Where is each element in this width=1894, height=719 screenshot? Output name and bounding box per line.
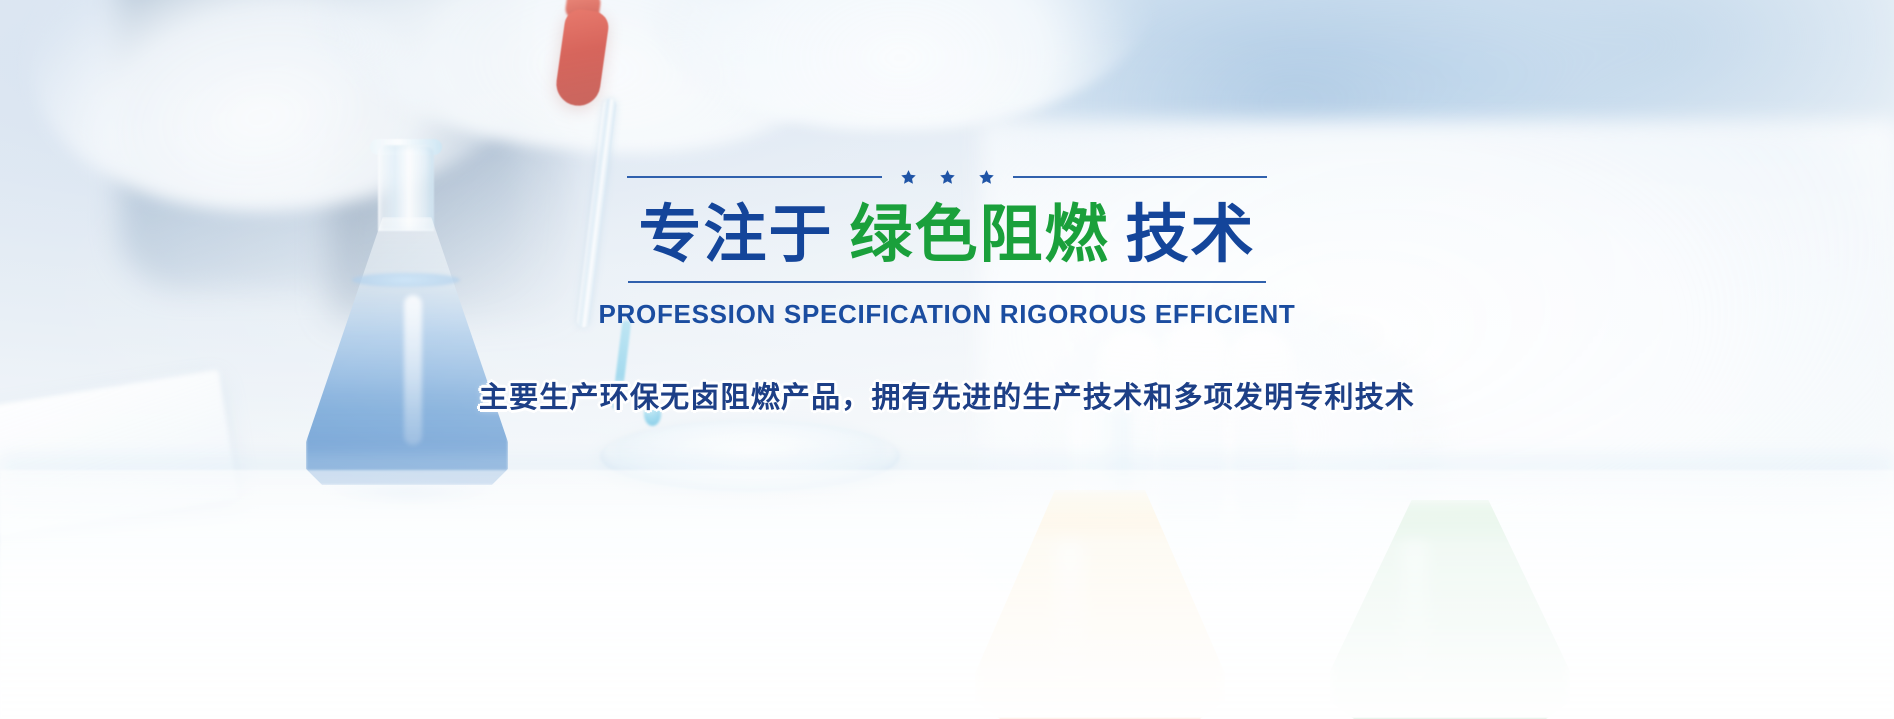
divider-line-left (627, 176, 882, 178)
divider-line-right (1013, 176, 1268, 178)
page-title: 专注于绿色阻燃技术 (639, 200, 1256, 271)
subtitle: PROFESSION SPECIFICATION RIGOROUS EFFICI… (599, 299, 1296, 330)
headline-part-1: 专注于 (639, 198, 834, 271)
star-icon (900, 169, 917, 186)
star-icon (939, 169, 956, 186)
star-icon (978, 169, 995, 186)
headline-part-3: 技术 (1126, 198, 1256, 271)
tagline: 主要生产环保无卤阻燃产品，拥有先进的生产技术和多项发明专利技术 (479, 374, 1415, 416)
headline-part-2: 绿色阻燃 (850, 198, 1110, 271)
banner-content: 专注于绿色阻燃技术 PROFESSION SPECIFICATION RIGOR… (0, 0, 1894, 719)
divider-stars (882, 169, 1013, 186)
headline-underline (628, 281, 1266, 283)
decorative-divider (627, 168, 1267, 186)
hero-banner: 专注于绿色阻燃技术 PROFESSION SPECIFICATION RIGOR… (0, 0, 1894, 719)
